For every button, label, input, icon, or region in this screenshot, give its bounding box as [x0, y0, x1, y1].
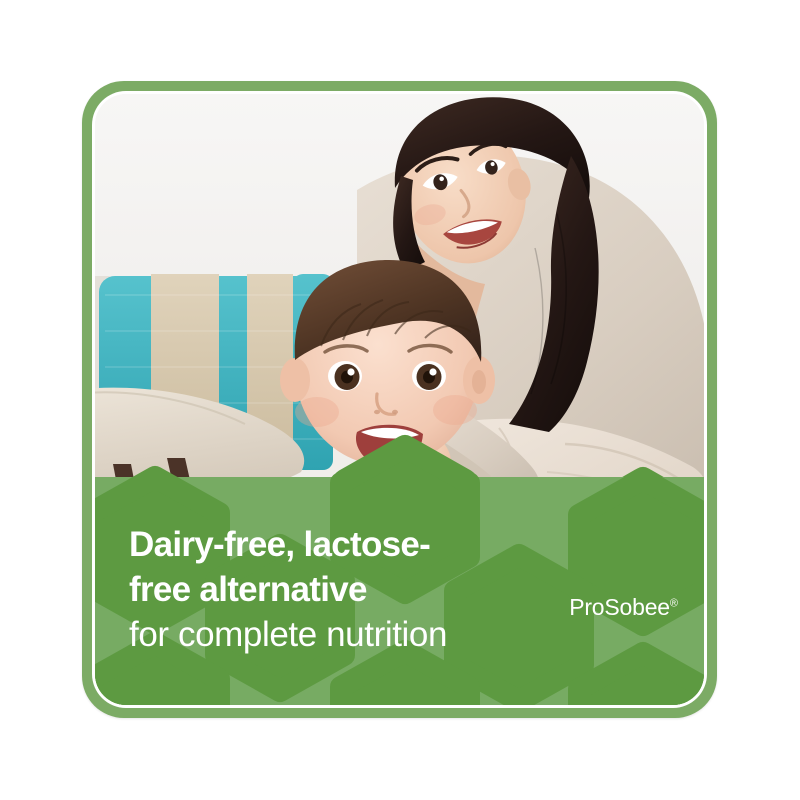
- content-card: Dairy-free, lactose- free alternative fo…: [95, 94, 704, 705]
- registered-trademark-symbol: ®: [670, 597, 678, 609]
- headline-line-3: for complete nutrition: [129, 612, 559, 657]
- headline-line-2: free alternative: [129, 567, 559, 612]
- headline-line-1: Dairy-free, lactose-: [129, 522, 559, 567]
- brand-name-text: ProSobee: [569, 594, 670, 620]
- brand-logo-prosobee: ProSobee®: [569, 594, 678, 621]
- green-message-panel: Dairy-free, lactose- free alternative fo…: [95, 477, 704, 705]
- headline-block: Dairy-free, lactose- free alternative fo…: [129, 522, 559, 657]
- banner-root: Dairy-free, lactose- free alternative fo…: [0, 0, 800, 800]
